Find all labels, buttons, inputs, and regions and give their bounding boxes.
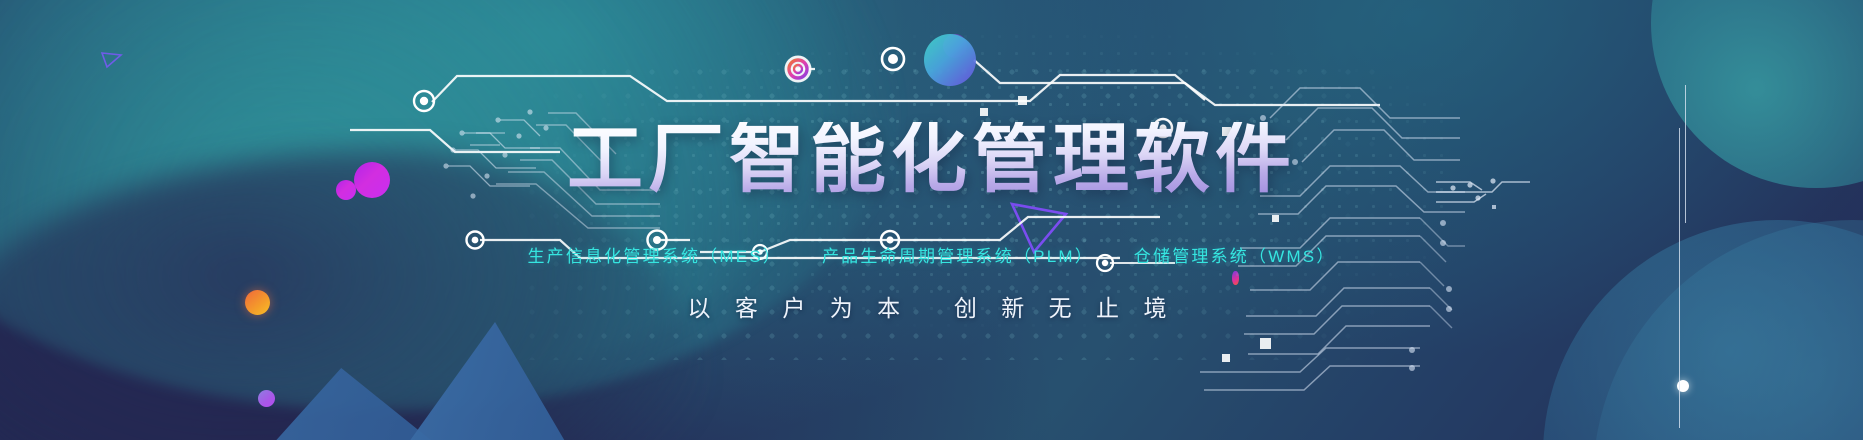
banner-content: 工厂智能化管理软件 生产信息化管理系统（MES） 产品生命周期管理系统（PLM）… [0, 0, 1863, 323]
product-subtitle-line: 生产信息化管理系统（MES） 产品生命周期管理系统（PLM） 仓储管理系统（WM… [527, 242, 1335, 267]
page-title: 工厂智能化管理软件 [567, 122, 1296, 198]
subtitle-item-wms: 仓储管理系统（WMS） [1134, 247, 1336, 266]
hero-banner: 工厂智能化管理软件 生产信息化管理系统（MES） 产品生命周期管理系统（PLM）… [0, 0, 1863, 440]
subtitle-item-mes: 生产信息化管理系统（MES） [527, 247, 782, 266]
tagline-part-2: 创 新 无 止 境 [954, 295, 1176, 321]
subtitle-item-plm: 产品生命周期管理系统（PLM） [822, 247, 1094, 266]
tagline: 以 客 户 为 本 创 新 无 止 境 [688, 289, 1176, 323]
tagline-part-1: 以 客 户 为 本 [688, 295, 910, 321]
